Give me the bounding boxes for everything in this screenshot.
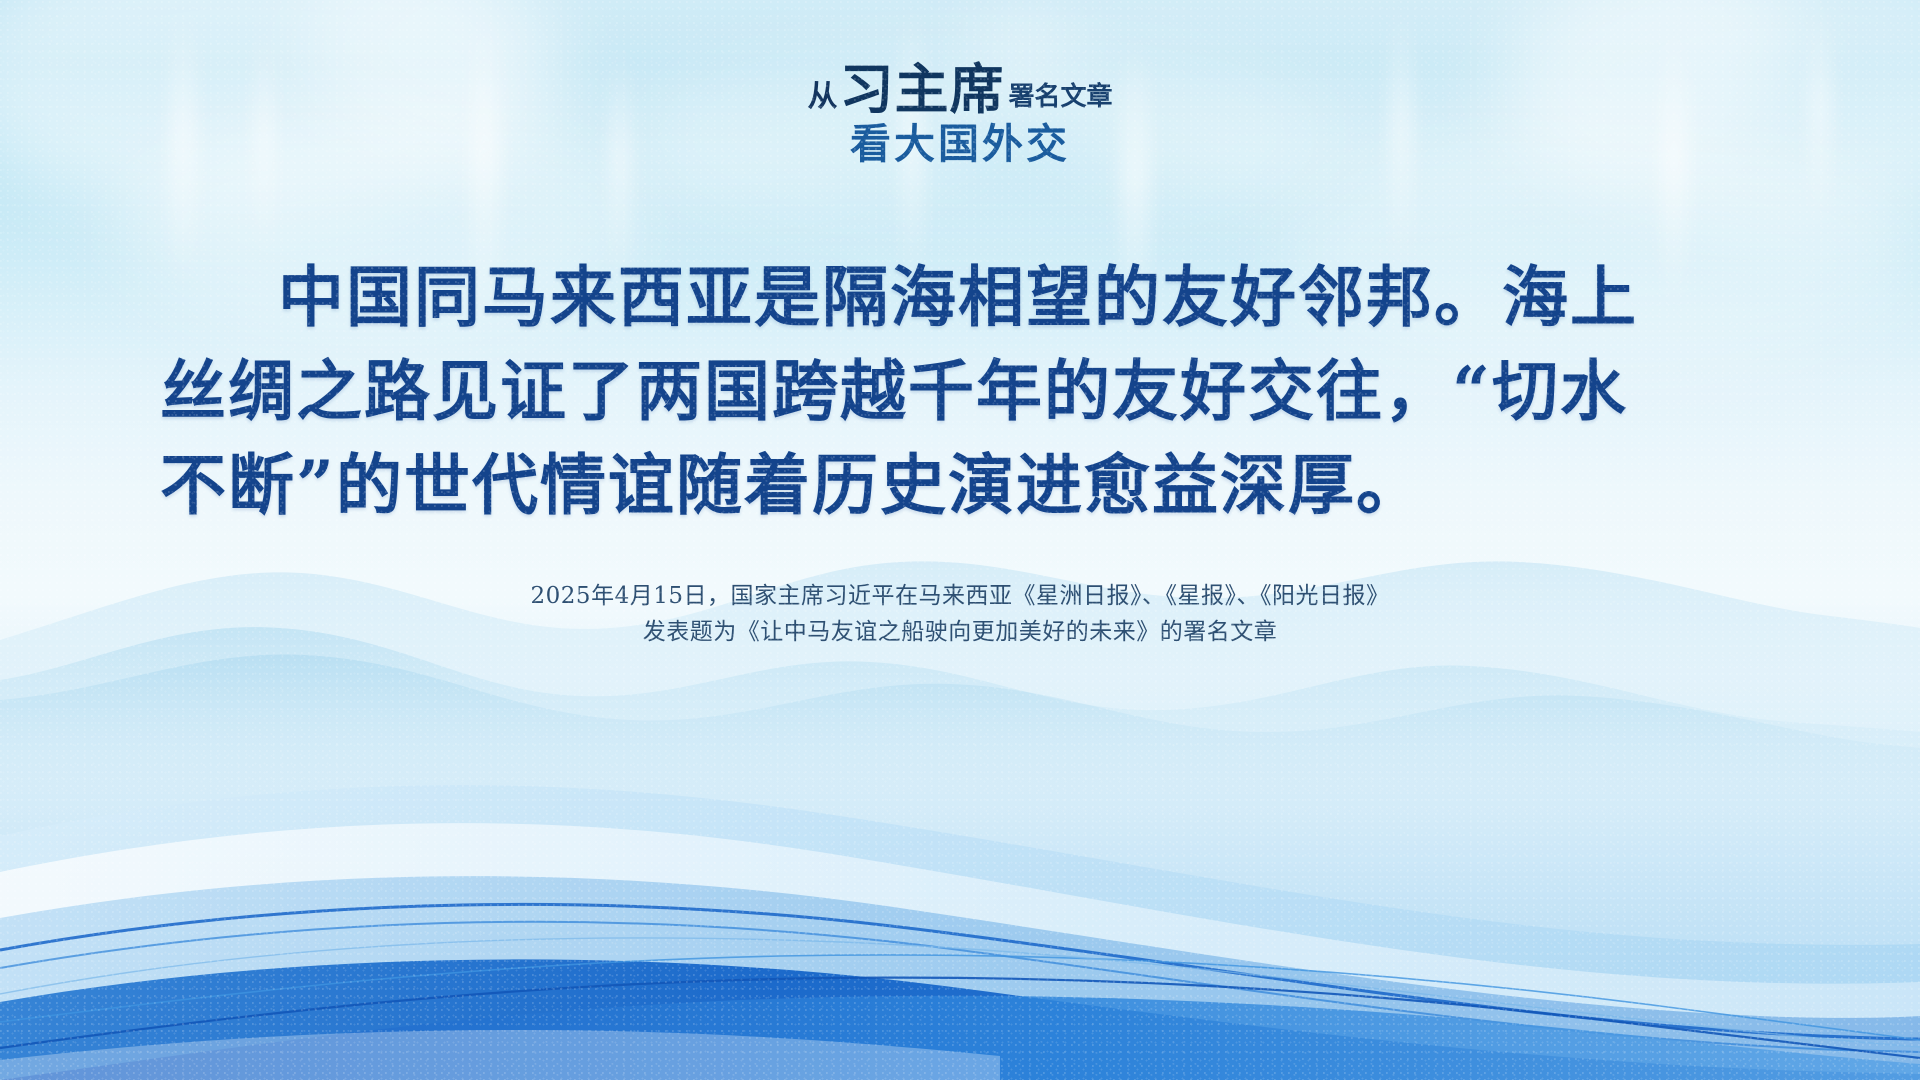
caption-line: 发表题为《让中马友谊之船驶向更加美好的未来》的署名文章	[0, 614, 1920, 650]
header-prefix: 从	[807, 82, 837, 112]
header-logo: 从 习主席 署名文章 看大国外交	[0, 62, 1920, 165]
header-suffix: 署名文章	[1008, 84, 1112, 110]
quote-block: 中国同马来西亚是隔海相望的友好邻邦。海上 丝绸之路见证了两国跨越千年的友好交往，…	[160, 250, 1760, 532]
caption-line: 2025年4月15日，国家主席习近平在马来西亚《星洲日报》、《星报》、《阳光日报…	[0, 578, 1920, 614]
quote-line: 丝绸之路见证了两国跨越千年的友好交往，“切水	[160, 344, 1760, 438]
quote-line: 不断”的世代情谊随着历史演进愈益深厚。	[160, 438, 1760, 532]
wave-ribbon-group	[0, 650, 1920, 1080]
mountain-layer-near	[0, 530, 1920, 830]
caption-block: 2025年4月15日，国家主席习近平在马来西亚《星洲日报》、《星报》、《阳光日报…	[0, 578, 1920, 650]
header-emphasis: 习主席	[839, 62, 1004, 116]
header-line-1: 从 习主席 署名文章	[807, 62, 1112, 116]
header-line-2: 看大国外交	[0, 124, 1920, 165]
quote-line: 中国同马来西亚是隔海相望的友好邻邦。海上	[160, 250, 1760, 344]
poster-canvas: 从 习主席 署名文章 看大国外交 中国同马来西亚是隔海相望的友好邻邦。海上 丝绸…	[0, 0, 1920, 1080]
